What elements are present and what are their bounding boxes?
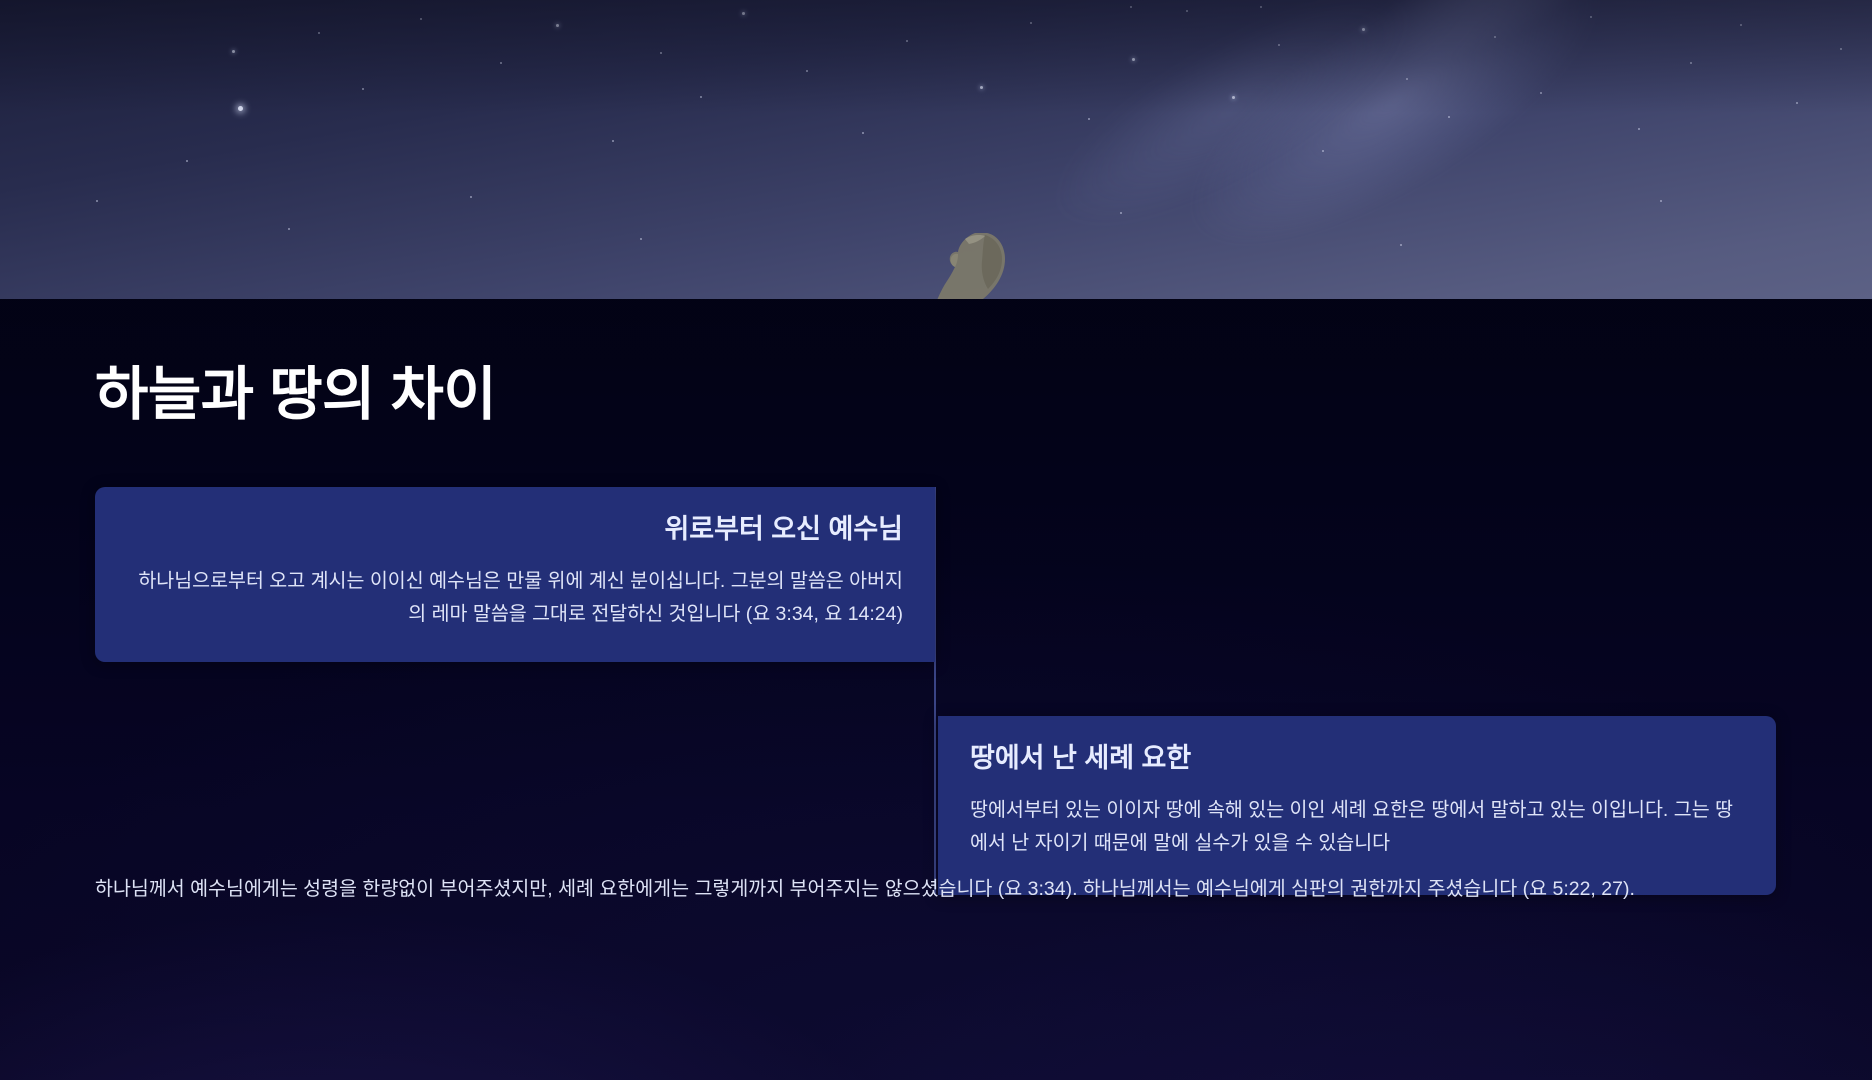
hero-image [0, 0, 1872, 299]
card-earth-john-body: 땅에서부터 있는 이이자 땅에 속해 있는 이인 세례 요한은 땅에서 말하고 … [970, 794, 1742, 861]
summary-paragraph: 하나님께서 예수님에게는 성령을 한량없이 부어주셨지만, 세례 요한에게는 그… [95, 873, 1775, 907]
person-looking-up-silhouette-icon [925, 213, 1017, 299]
page-root: 하늘과 땅의 차이 위로부터 오신 예수님 하나님으로부터 오고 계시는 이이신… [0, 0, 1872, 1080]
milky-way-band-icon [956, 0, 1872, 299]
comparison-diagram: 위로부터 오신 예수님 하나님으로부터 오고 계시는 이이신 예수님은 만물 위… [0, 487, 1872, 847]
milky-way-band-secondary-icon [889, 0, 1576, 299]
card-above-jesus-title: 위로부터 오신 예수님 [127, 513, 903, 547]
card-earth-john[interactable]: 땅에서 난 세례 요한 땅에서부터 있는 이이자 땅에 속해 있는 이인 세례 … [938, 716, 1776, 895]
star-field [0, 0, 1872, 299]
card-above-jesus[interactable]: 위로부터 오신 예수님 하나님으로부터 오고 계시는 이이신 예수님은 만물 위… [95, 487, 935, 662]
card-earth-john-title: 땅에서 난 세례 요한 [970, 742, 1742, 776]
card-above-jesus-body: 하나님으로부터 오고 계시는 이이신 예수님은 만물 위에 계신 분이십니다. … [127, 565, 903, 632]
page-title: 하늘과 땅의 차이 [95, 347, 496, 431]
